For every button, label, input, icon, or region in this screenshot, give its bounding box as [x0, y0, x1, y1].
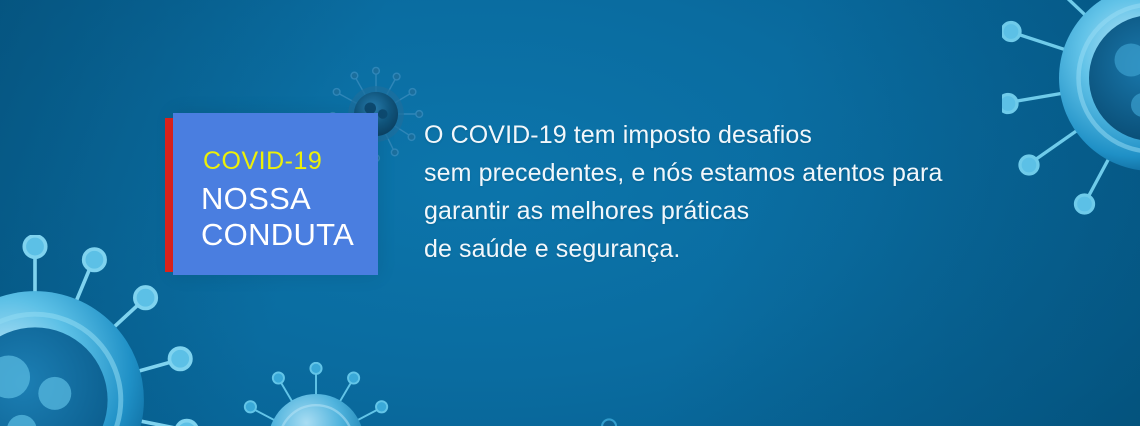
covid-conduct-banner: COVID-19 NOSSA CONDUTA O COVID-19 tem im… [0, 0, 1140, 426]
coronavirus-particle-bottom-right-icon [560, 388, 750, 426]
card-panel: COVID-19 NOSSA CONDUTA [173, 113, 378, 275]
card-title: NOSSA CONDUTA [201, 181, 354, 253]
coronavirus-particle-top-right-icon [1002, 0, 1140, 228]
coronavirus-particle-bottom-center-icon [236, 362, 396, 426]
banner-message-text: O COVID-19 tem imposto desafios sem prec… [424, 116, 942, 268]
card-eyebrow-label: COVID-19 [203, 147, 322, 176]
conduct-card: COVID-19 NOSSA CONDUTA [165, 113, 378, 275]
